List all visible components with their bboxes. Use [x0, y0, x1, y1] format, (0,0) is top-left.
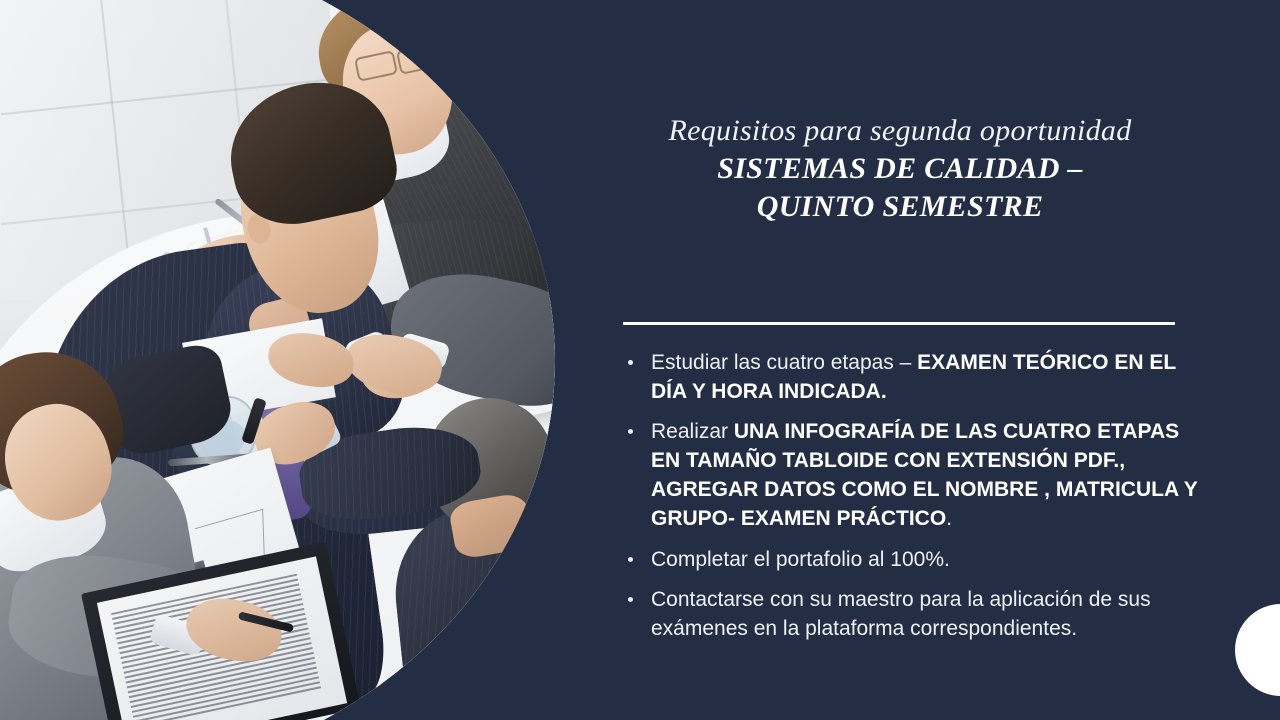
decorative-corner-circle [1235, 604, 1280, 696]
bullet-dot-icon [628, 360, 633, 365]
slide-title: Requisitos para segunda oportunidad SIST… [600, 112, 1200, 226]
bullet-text: Contactarse con su maestro para la aplic… [651, 588, 1151, 640]
slide-canvas: Requisitos para segunda oportunidad SIST… [0, 0, 1280, 720]
bullet-text: Completar el portafolio al 100%. [651, 548, 950, 571]
bullet-item: Estudiar las cuatro etapas – EXAMEN TEÓR… [622, 348, 1202, 406]
bullet-item: Realizar UNA INFOGRAFÍA DE LAS CUATRO ET… [622, 417, 1202, 533]
bullet-text: Realizar UNA INFOGRAFÍA DE LAS CUATRO ET… [651, 420, 1197, 530]
bullet-item: Contactarse con su maestro para la aplic… [622, 585, 1202, 643]
bullet-dot-icon [628, 429, 633, 434]
title-line-2: SISTEMAS DE CALIDAD – [600, 150, 1200, 188]
bullet-dot-icon [628, 597, 633, 602]
content-pane: Requisitos para segunda oportunidad SIST… [0, 0, 1280, 720]
title-divider-rule [623, 322, 1175, 325]
title-line-1: Requisitos para segunda oportunidad [600, 112, 1200, 150]
bullet-item: Completar el portafolio al 100%. [622, 545, 1202, 574]
title-line-3: QUINTO SEMESTRE [600, 188, 1200, 226]
bullet-list: Estudiar las cuatro etapas – EXAMEN TEÓR… [622, 348, 1202, 654]
bullet-dot-icon [628, 557, 633, 562]
bullet-text: Estudiar las cuatro etapas – EXAMEN TEÓR… [651, 351, 1176, 403]
